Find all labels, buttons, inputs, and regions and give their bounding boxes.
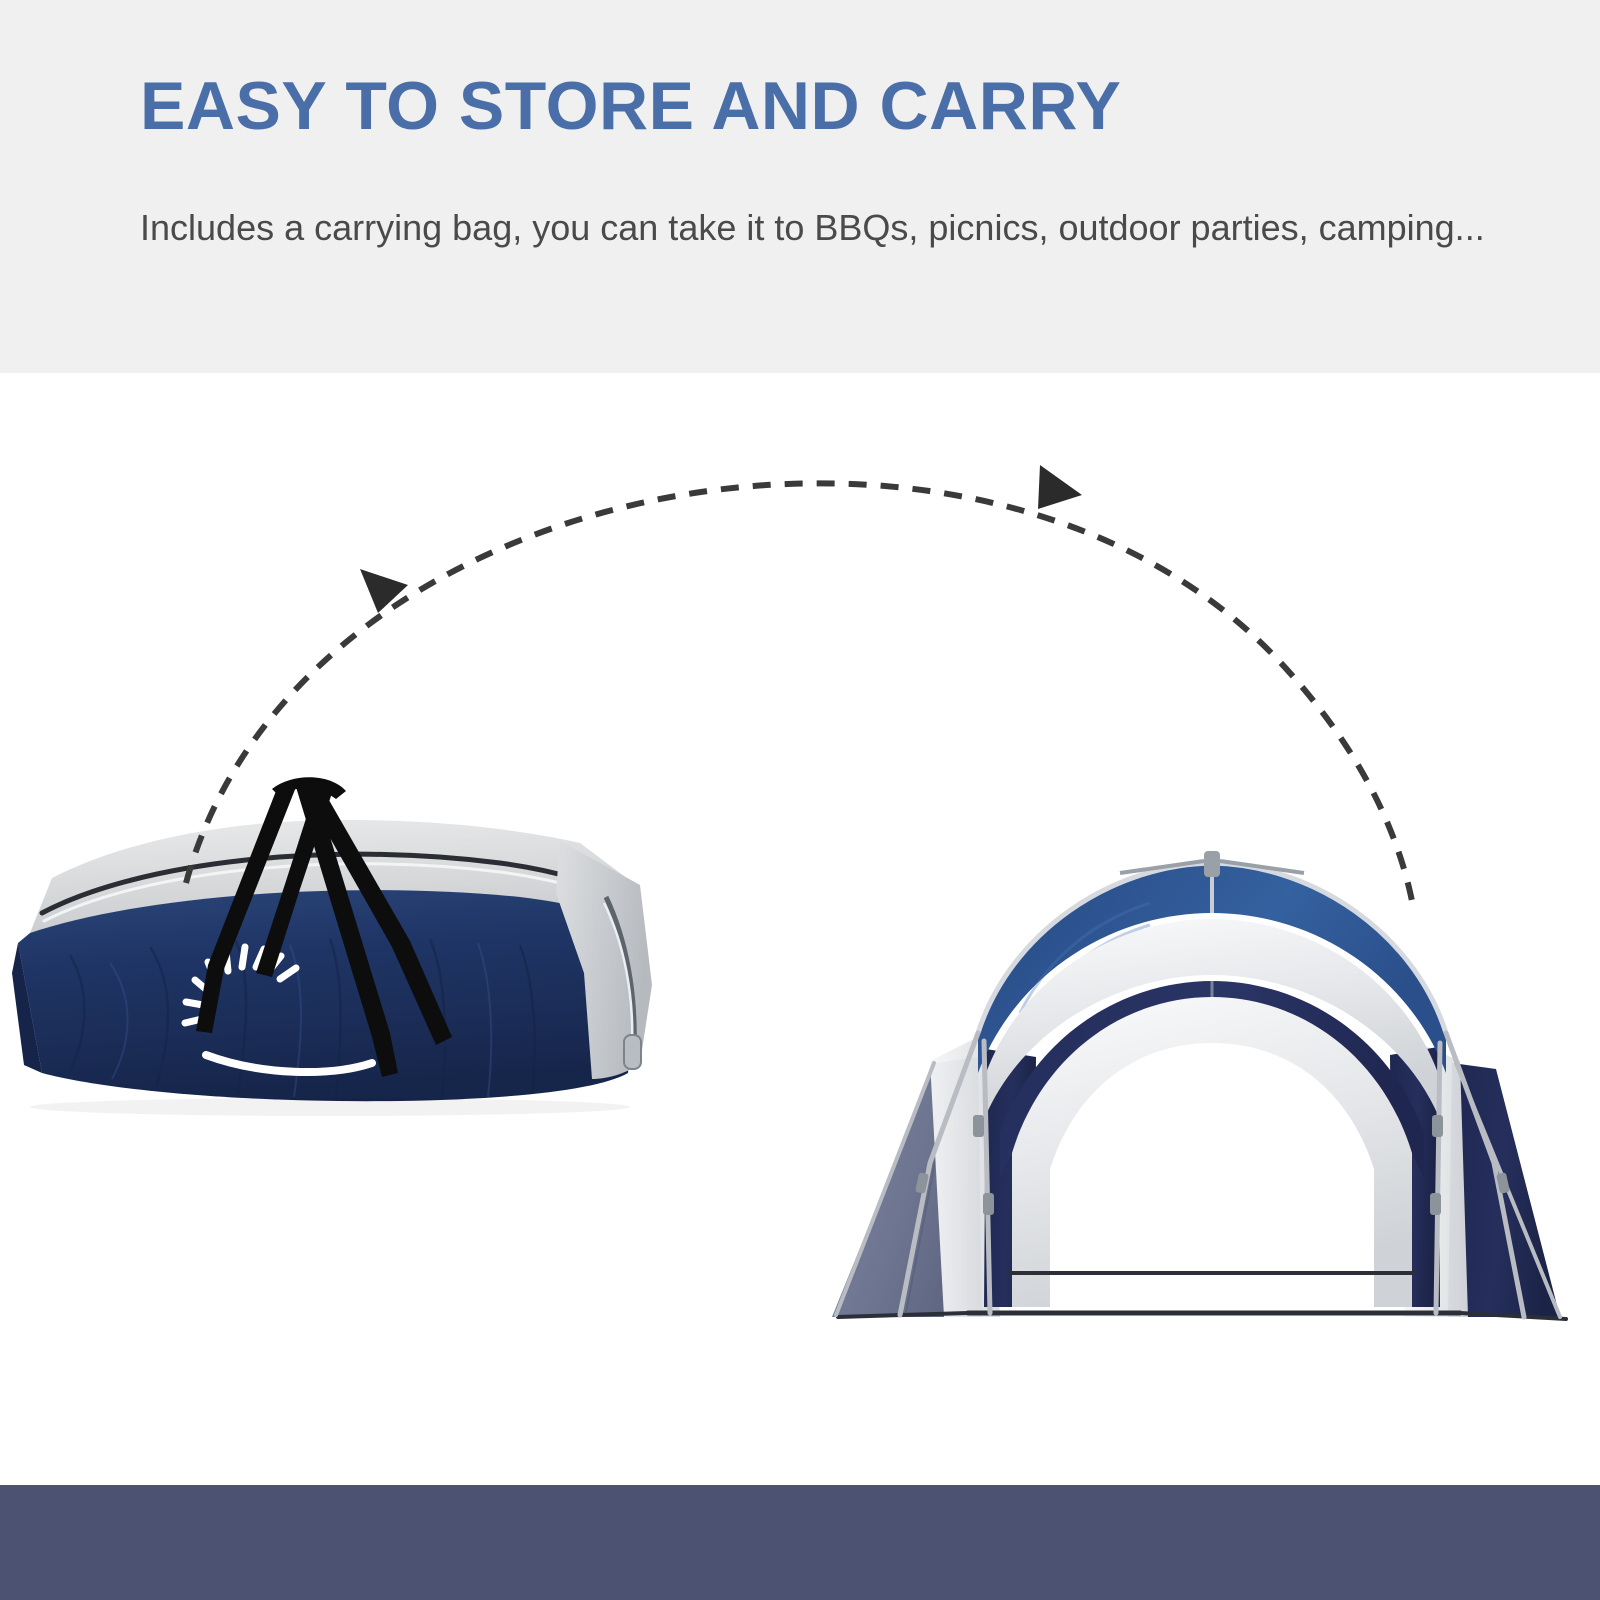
- product-feature-slide: EASY TO STORE AND CARRY Includes a carry…: [0, 0, 1600, 1600]
- header-band: EASY TO STORE AND CARRY Includes a carry…: [0, 0, 1600, 373]
- page-subtitle: Includes a carrying bag, you can take it…: [140, 200, 1500, 256]
- page-title: EASY TO STORE AND CARRY: [140, 72, 1121, 140]
- footer-bar: [0, 1485, 1600, 1600]
- arrow-head-left: [360, 569, 408, 613]
- transport-arrow: [0, 373, 1600, 1485]
- arrow-head-right: [1038, 465, 1082, 509]
- product-illustration-stage: [0, 373, 1600, 1485]
- arrow-arc: [186, 483, 1412, 901]
